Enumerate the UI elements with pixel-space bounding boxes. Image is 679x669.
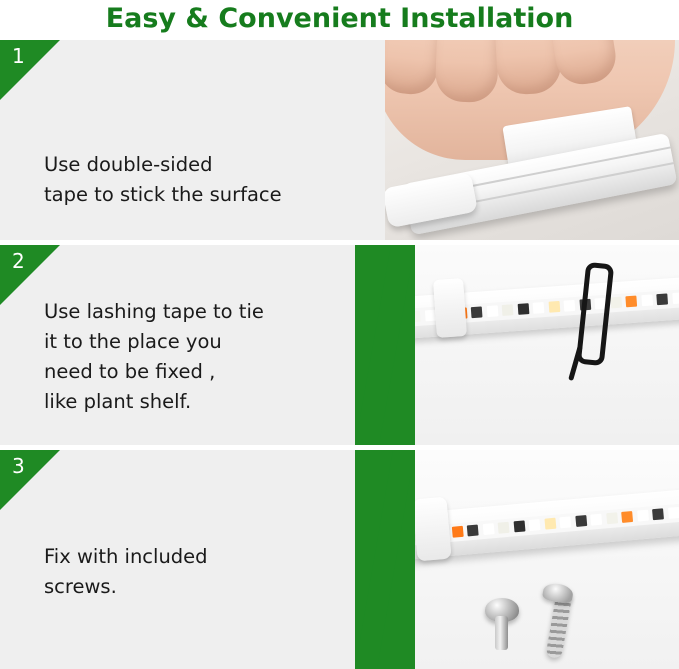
led-chip [621, 511, 633, 523]
led-chip [451, 526, 463, 538]
led-chip [590, 514, 602, 526]
green-diagonal-divider-2 [355, 245, 415, 445]
led-chip [498, 522, 510, 534]
led-chip [482, 523, 494, 535]
led-chip [667, 507, 679, 519]
step-3-photo [385, 450, 679, 669]
led-chip [652, 508, 664, 520]
infographic-page: Easy & Convenient Installation [0, 0, 679, 669]
led-chip [672, 292, 679, 304]
led-chip [575, 515, 587, 527]
step-1-number: 1 [12, 46, 25, 66]
page-title: Easy & Convenient Installation [0, 0, 679, 40]
led-chip [625, 296, 637, 308]
step-2-photo [385, 245, 679, 445]
screw-shaft-1 [495, 616, 508, 650]
step-row-1: 1 Use double-sided tape to stick the sur… [0, 40, 679, 240]
led-chip [548, 301, 560, 313]
step-1-text-panel [0, 40, 385, 240]
led-bar-endcap [412, 497, 451, 562]
led-chip [513, 520, 525, 532]
led-bar-endcap [433, 278, 467, 338]
led-chip [533, 302, 545, 314]
led-chip [606, 512, 618, 524]
led-chip [471, 306, 483, 318]
led-chip [544, 518, 556, 530]
step-row-2: 2 Use lashing tape to tie it to the plac… [0, 245, 679, 445]
led-chip [517, 303, 529, 315]
step-1-text: Use double-sided tape to stick the surfa… [44, 150, 282, 210]
step-2-text: Use lashing tape to tie it to the place … [44, 297, 264, 417]
led-chip [564, 300, 576, 312]
led-chip [529, 519, 541, 531]
led-chip [610, 297, 622, 309]
step-row-3: 3 Fix with included screws. [0, 450, 679, 669]
led-chip [656, 293, 668, 305]
led-chip [559, 516, 571, 528]
step-3-text: Fix with included screws. [44, 542, 208, 602]
led-chip [637, 510, 649, 522]
led-chip [502, 304, 514, 316]
step-2-number: 2 [12, 251, 25, 271]
step-3-number: 3 [12, 456, 25, 476]
led-chip [486, 305, 498, 317]
led-chip [467, 525, 479, 537]
green-diagonal-divider-3 [355, 450, 415, 669]
led-chip [641, 295, 653, 307]
step-1-photo [385, 40, 679, 240]
